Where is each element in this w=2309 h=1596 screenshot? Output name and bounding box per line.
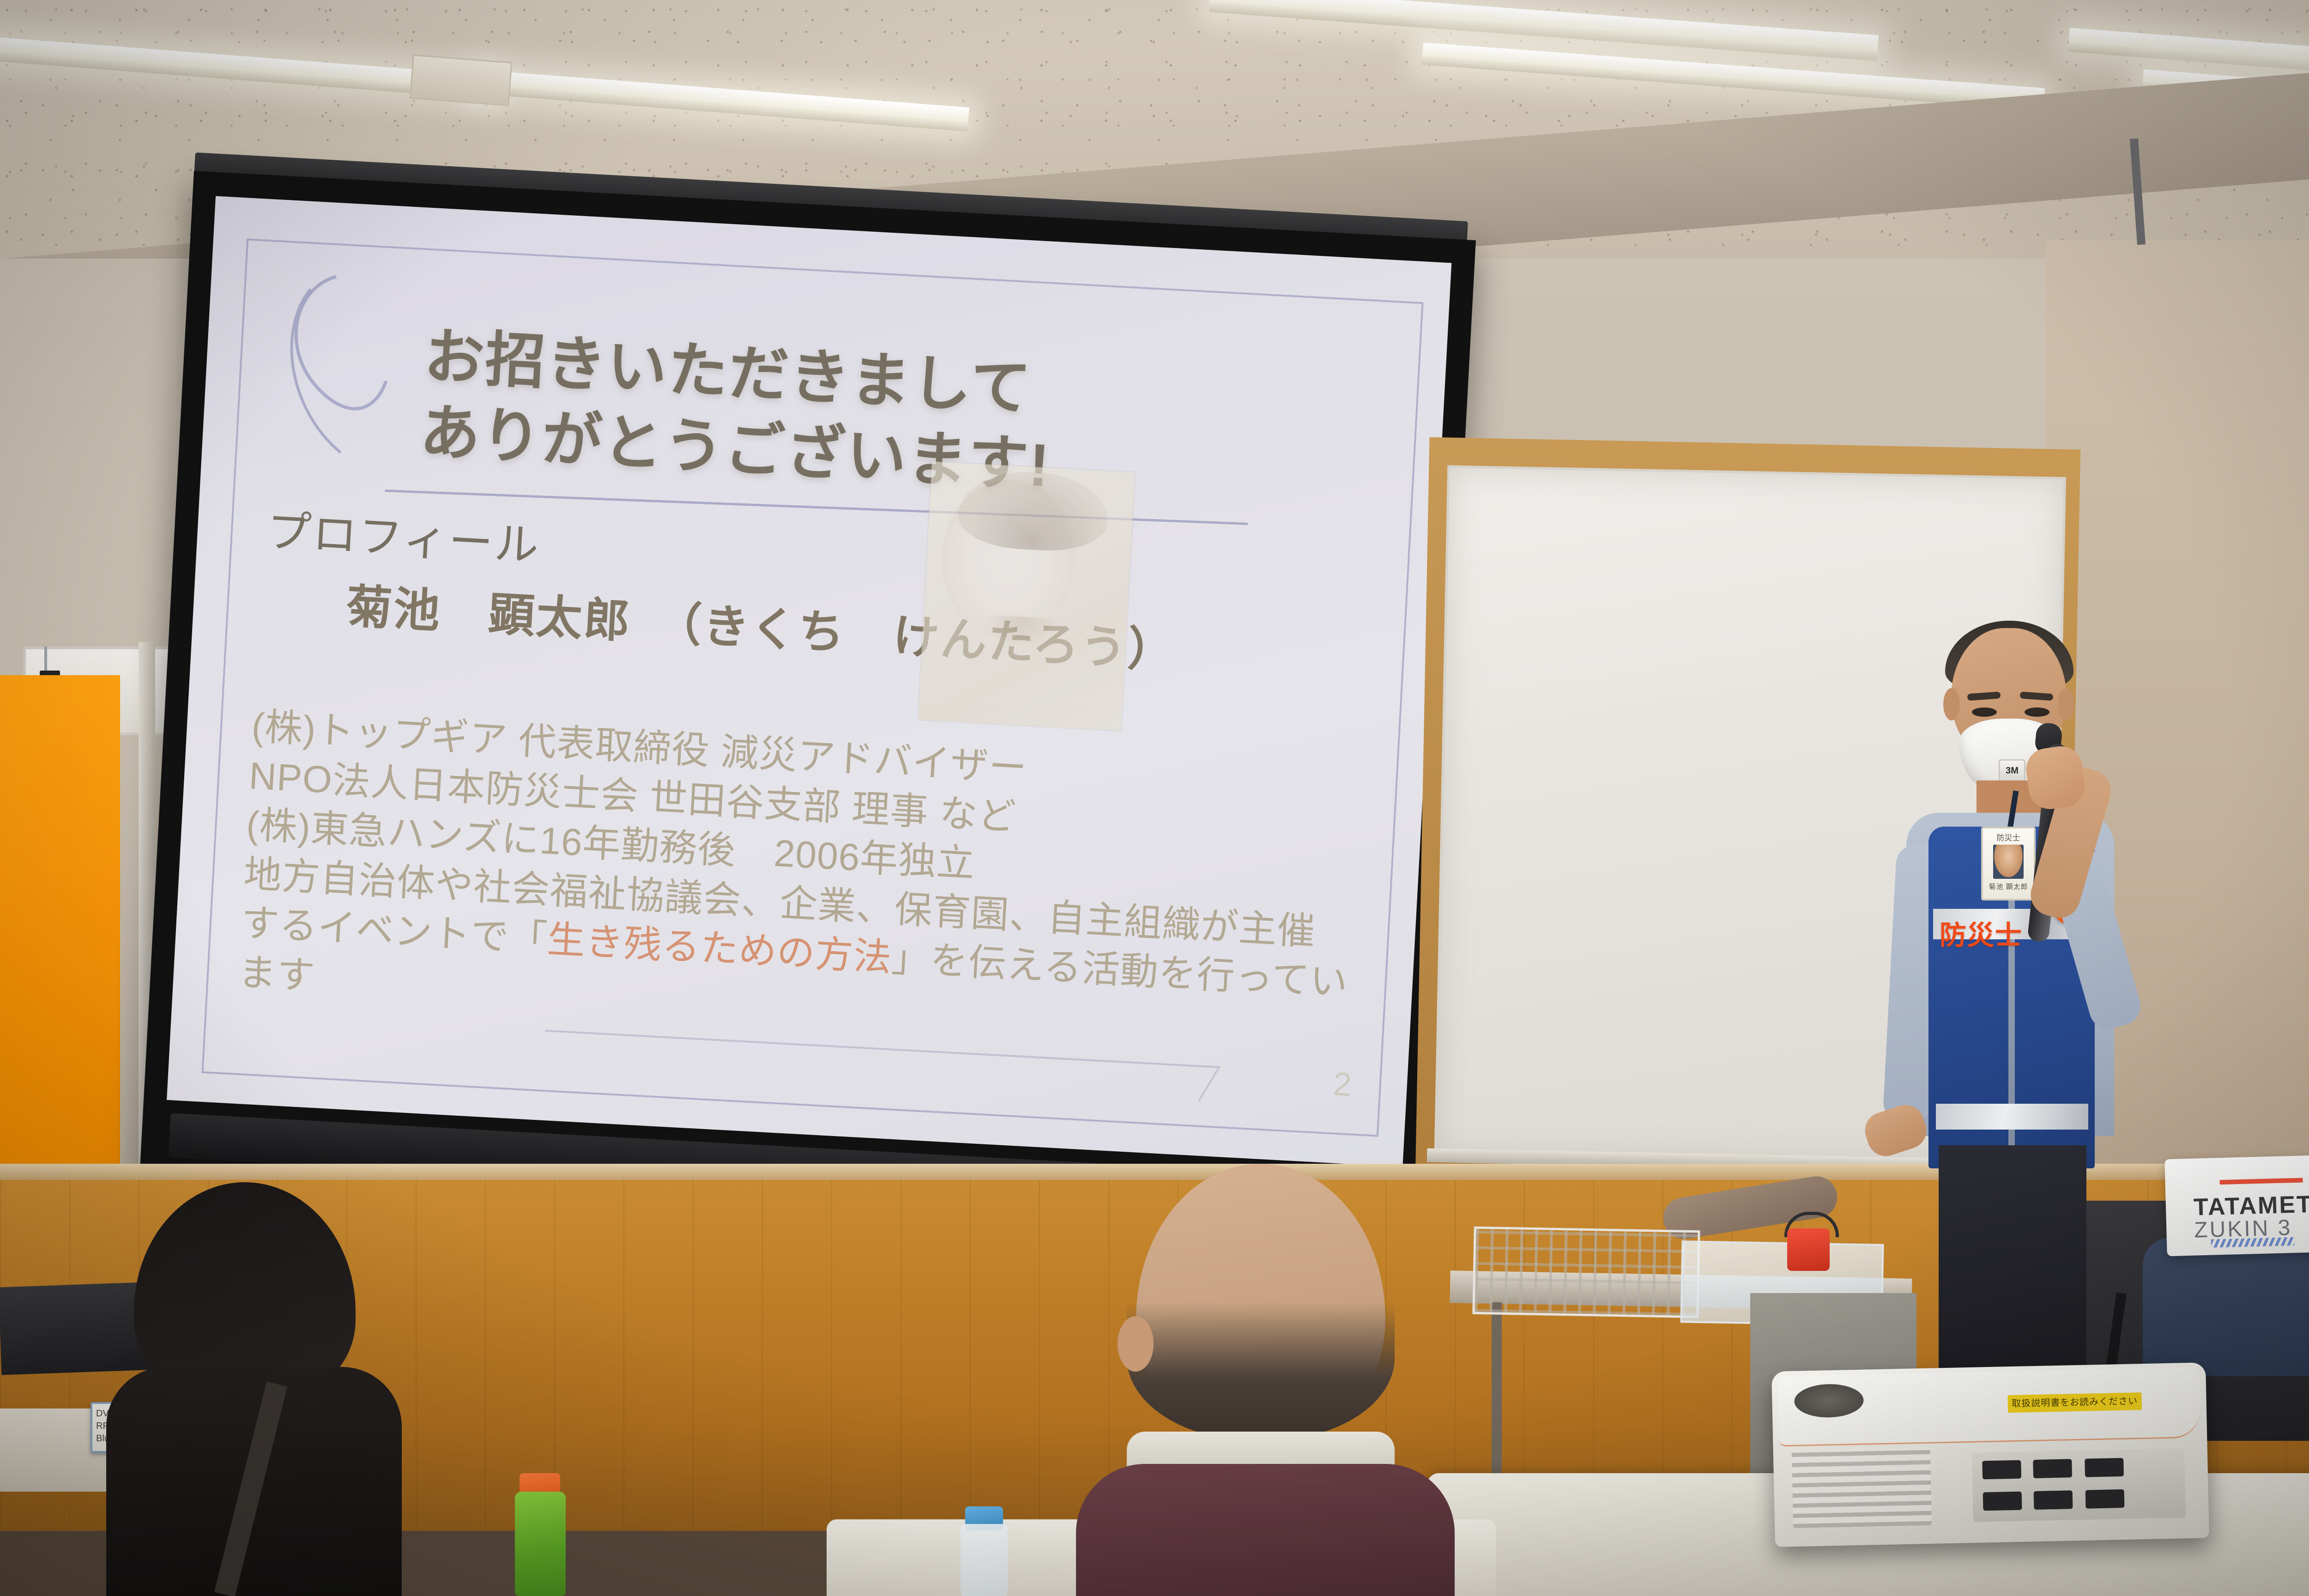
audience-hair [1127,1302,1395,1441]
presenter-ear [2058,688,2074,720]
screen-surface: お招きいただきまして ありがとうございます! プロフィール 菊池 顕太郎 （きく… [167,196,1451,1167]
projector-port [2034,1490,2073,1510]
projector-port [2085,1458,2124,1477]
presenter-eye [1972,707,1997,717]
slide-portrait-photo [918,461,1135,731]
projector: 取扱説明書をお読みください [1771,1362,2209,1547]
projector-port [2033,1459,2072,1478]
vest-label: 防災士 [1940,913,2023,952]
emergency-lantern [1787,1228,1830,1271]
projection-screen: お招きいただきまして ありがとうございます! プロフィール 菊池 顕太郎 （きく… [139,171,1476,1250]
box-barcode-bars [2211,1237,2294,1248]
green-tea-bottle [515,1492,566,1596]
projector-warning-label: 取扱説明書をお読みください [2007,1392,2142,1413]
projector-port [2085,1489,2125,1509]
slide-page-number: 2 [1332,1065,1352,1104]
table-leg [1492,1302,1502,1478]
presenter-ear [1943,688,1960,720]
projector-port-panel [1972,1448,2186,1522]
id-badge-title: 防災士 [1997,831,2020,843]
slide-swoosh-decoration [256,268,419,479]
presenter-eye [2025,707,2049,717]
id-badge: 防災士 菊池 顕太郎 [1981,827,2036,901]
projector-port [1983,1492,2022,1511]
presenter: 3M 防災士 BOSAI 防災士 菊池 顕太郎 [1829,628,2189,1376]
audience-sweater [1076,1464,1455,1596]
projector-port [1982,1460,2021,1480]
audience-ear [1118,1316,1154,1372]
orange-cloth-banner [0,675,120,1192]
audience-member-center [1058,1164,1473,1596]
projector-vents [1792,1447,1932,1528]
photo-scene: お招きいただきまして ありがとうございます! プロフィール 菊池 顕太郎 （きく… [0,0,2309,1596]
storage-basket [1472,1227,1700,1318]
id-badge-photo [1993,845,2024,879]
portrait-smile [983,615,1058,650]
water-bottle [961,1524,1008,1596]
id-badge-name: 菊池 顕太郎 [1989,882,2028,891]
projected-slide: お招きいただきまして ありがとうございます! プロフィール 菊池 顕太郎 （きく… [167,196,1451,1167]
portrait-hair [956,468,1110,554]
banner-hook [44,647,47,673]
audience-member-left [106,1182,402,1596]
ceiling-vent [410,54,513,106]
vest-reflective-strip [1936,1104,2088,1130]
presenter-trousers [1939,1145,2086,1376]
slide-body-text: (株)トップギア 代表取締役 減災アドバイザー NPO法人日本防災士会 世田谷支… [237,702,1369,1058]
box-stripe [2220,1178,2303,1185]
